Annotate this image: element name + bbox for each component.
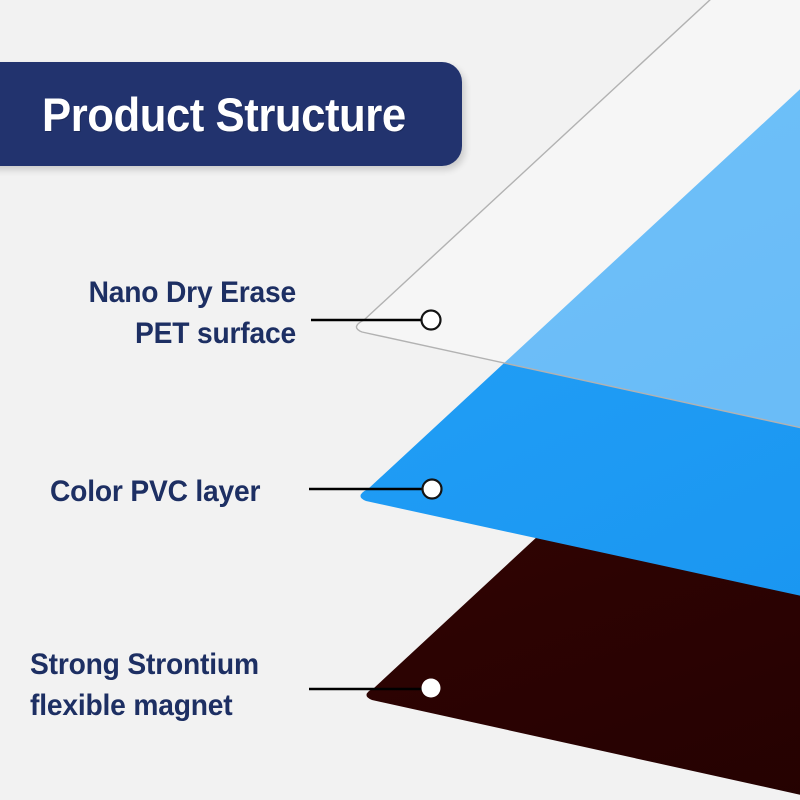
leader-dot-pet: [422, 311, 441, 330]
callout-line-2: flexible magnet: [30, 685, 303, 726]
callout-line-1: Strong Strontium: [30, 644, 303, 685]
product-structure-infographic: Product Structure Nano Dry Erase PET sur…: [0, 0, 800, 800]
callout-label-color-pvc-layer: Color PVC layer: [50, 471, 294, 512]
callout-line-2: PET surface: [70, 313, 296, 354]
callout-label-strong-strontium-flexible-magnet: Strong Strontium flexible magnet: [30, 644, 303, 726]
page-title-banner: Product Structure: [0, 62, 462, 166]
callout-line-1: Nano Dry Erase: [70, 272, 296, 313]
page-title: Product Structure: [42, 87, 406, 142]
callout-line-1: Color PVC layer: [50, 471, 294, 512]
leader-dot-pvc: [423, 480, 442, 499]
callout-label-nano-dry-erase-pet-surface: Nano Dry Erase PET surface: [70, 272, 296, 354]
leader-dot-magnet: [422, 679, 441, 698]
